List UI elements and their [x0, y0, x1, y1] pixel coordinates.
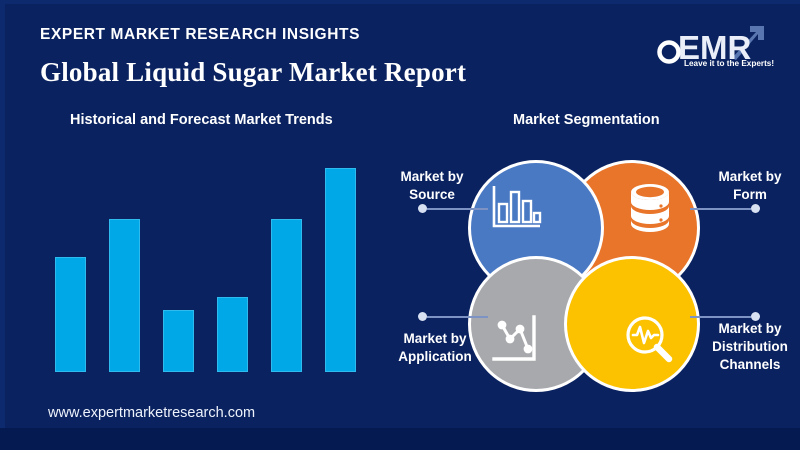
connector-dot — [418, 312, 427, 321]
venn-label-market-by-source: Market by Source — [382, 168, 482, 204]
brand-kicker: EXPERT MARKET RESEARCH INSIGHTS — [40, 26, 360, 44]
market-trends-bar-chart — [55, 150, 355, 372]
bar-6 — [325, 168, 356, 372]
connector-line — [690, 316, 751, 318]
left-border-strip — [0, 0, 5, 450]
section-heading-segmentation: Market Segmentation — [513, 112, 660, 128]
bar-chart-icon — [490, 184, 542, 237]
top-border-strip — [0, 0, 800, 4]
bar-2 — [109, 219, 140, 372]
line-graph-icon — [490, 315, 542, 370]
emr-logo[interactable]: EMR Leave it to the Experts! — [654, 14, 782, 72]
magnifier-pulse-icon — [624, 314, 676, 371]
page-title: Global Liquid Sugar Market Report — [40, 57, 466, 88]
logo-tagline: Leave it to the Experts! — [684, 59, 774, 68]
infographic-canvas: EXPERT MARKET RESEARCH INSIGHTS Global L… — [0, 0, 800, 450]
bar-3 — [163, 310, 194, 372]
venn-label-market-by-application: Market by Application — [382, 330, 488, 366]
venn-label-market-by-form: Market by Form — [700, 168, 800, 204]
connector-line — [427, 208, 488, 210]
venn-label-market-by-distribution-channels: Market by Distribution Channels — [700, 320, 800, 373]
logo-circle-icon — [660, 43, 679, 62]
market-segmentation-venn — [468, 160, 700, 392]
website-url[interactable]: www.expertmarketresearch.com — [48, 405, 255, 421]
bar-4 — [217, 297, 248, 372]
bar-1 — [55, 257, 86, 372]
venn-segment-market-by-distribution-channels[interactable] — [564, 256, 700, 392]
connector-dot — [418, 204, 427, 213]
database-icon — [625, 182, 675, 239]
connector-line — [427, 316, 488, 318]
bar-5 — [271, 219, 302, 372]
connector-dot — [751, 204, 760, 213]
bottom-border-strip — [0, 428, 800, 450]
connector-line — [690, 208, 751, 210]
section-heading-trends: Historical and Forecast Market Trends — [70, 112, 333, 128]
